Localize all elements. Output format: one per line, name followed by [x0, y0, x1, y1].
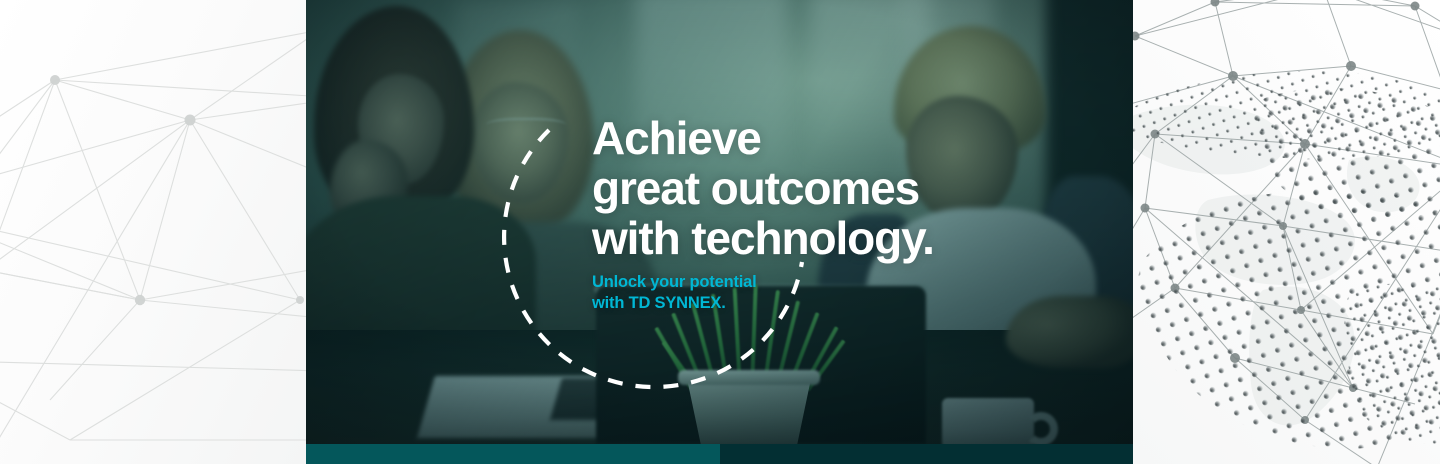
- hero-subheadline: Unlock your potential with TD SYNNEX.: [592, 272, 1022, 313]
- hero-image: Achieve great outcomes with technology. …: [306, 0, 1133, 444]
- hero-headline: Achieve great outcomes with technology.: [592, 113, 1022, 263]
- left-network-graphic: [0, 0, 306, 464]
- headline-line-3: with technology.: [592, 213, 1022, 263]
- right-globe-graphic: [1133, 0, 1440, 464]
- network-constellation-icon: [0, 0, 306, 464]
- headline-line-2: great outcomes: [592, 163, 1022, 213]
- hero-copy: Achieve great outcomes with technology. …: [592, 113, 1022, 313]
- halftone-dot-map-icon: [1133, 0, 1440, 464]
- hero-banner: Achieve great outcomes with technology. …: [0, 0, 1440, 464]
- headline-line-1: Achieve: [592, 113, 1022, 163]
- footer-bar-right: [720, 444, 1133, 464]
- subhead-line-2: with TD SYNNEX.: [592, 293, 1022, 314]
- subhead-line-1: Unlock your potential: [592, 272, 1022, 293]
- footer-bar-left: [306, 444, 720, 464]
